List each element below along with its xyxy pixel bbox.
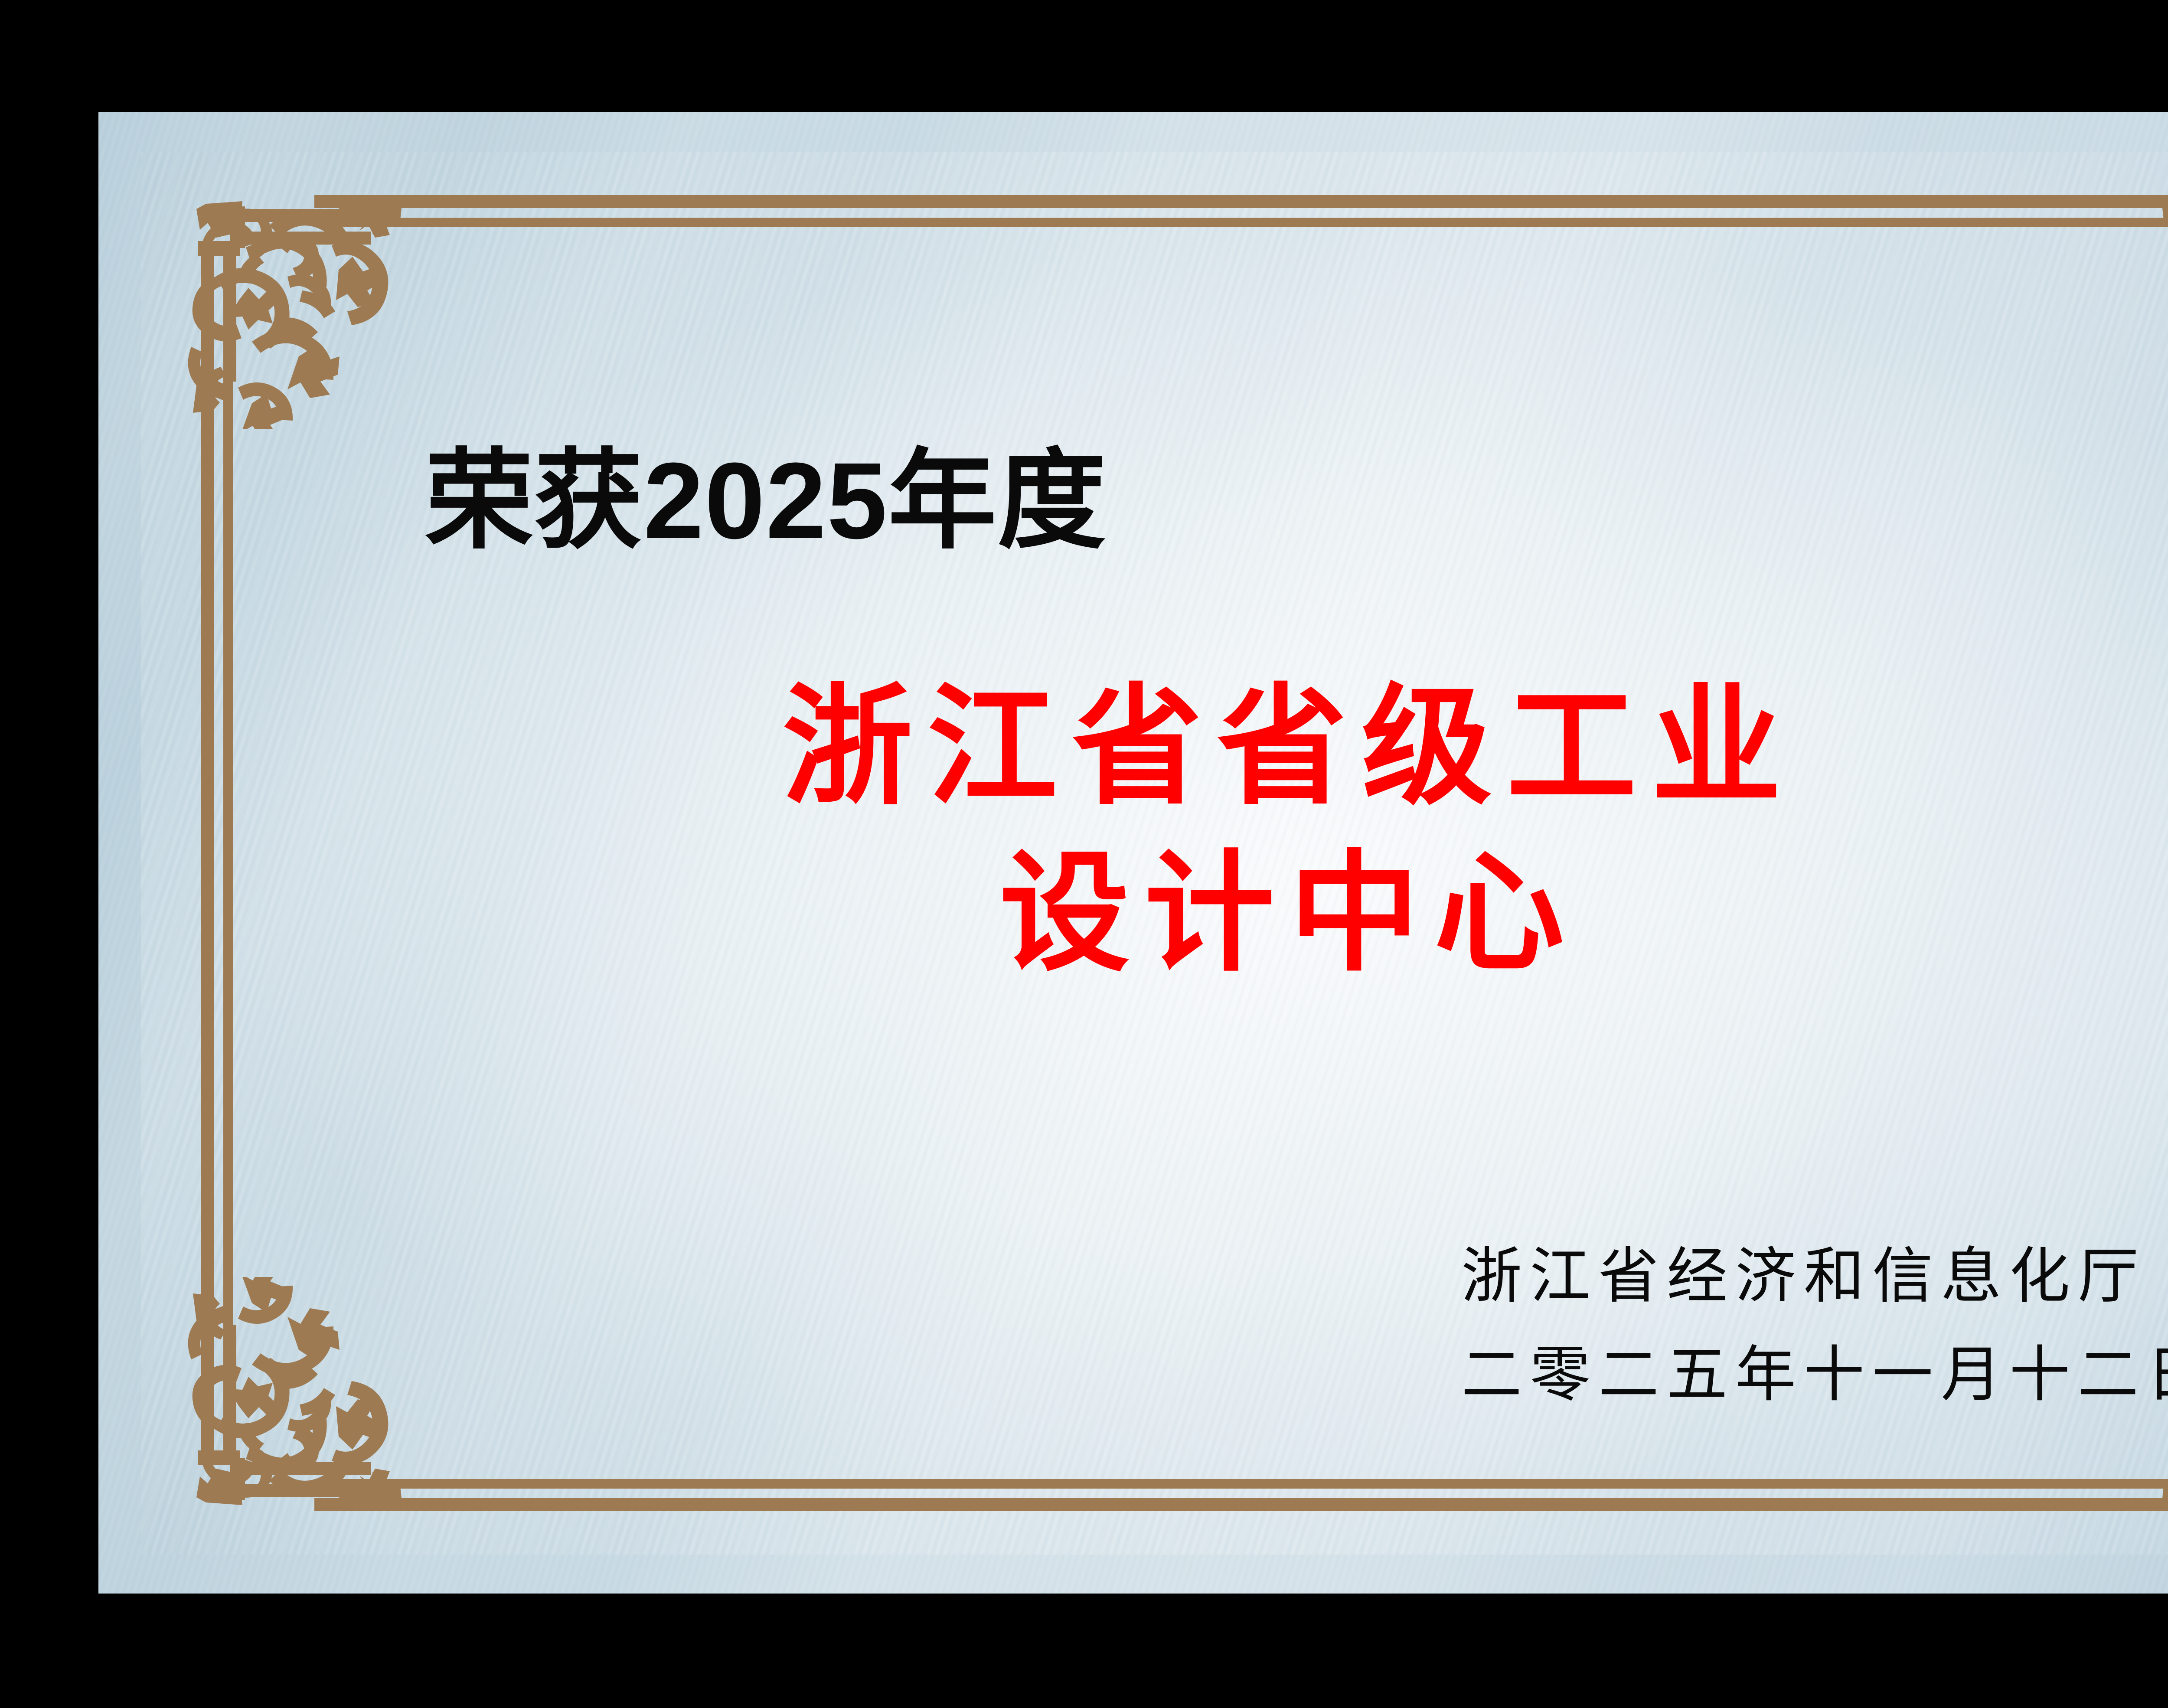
plaque-text-layer: 荣获2025年度 浙江省省级工业 设计中心 浙江省经济和信息化厅 二零二五年十一… — [141, 152, 2168, 1555]
certificate-plaque: 荣获2025年度 浙江省省级工业 设计中心 浙江省经济和信息化厅 二零二五年十一… — [0, 0, 2168, 1708]
issuer-block: 浙江省经济和信息化厅 二零二五年十一月十二日 — [1461, 1227, 2168, 1424]
award-title-line-2: 设计中心 — [141, 830, 2168, 996]
plaque-inner-panel: 荣获2025年度 浙江省省级工业 设计中心 浙江省经济和信息化厅 二零二五年十一… — [141, 152, 2168, 1555]
award-year-eyebrow: 荣获2025年度 — [425, 447, 1107, 555]
award-title: 浙江省省级工业 设计中心 — [141, 663, 2168, 996]
issue-date: 二零二五年十一月十二日 — [1461, 1326, 2168, 1424]
plaque-metal-face: 荣获2025年度 浙江省省级工业 设计中心 浙江省经济和信息化厅 二零二五年十一… — [98, 112, 2168, 1594]
award-title-line-1: 浙江省省级工业 — [141, 663, 2168, 830]
issuing-authority: 浙江省经济和信息化厅 — [1461, 1227, 2168, 1326]
